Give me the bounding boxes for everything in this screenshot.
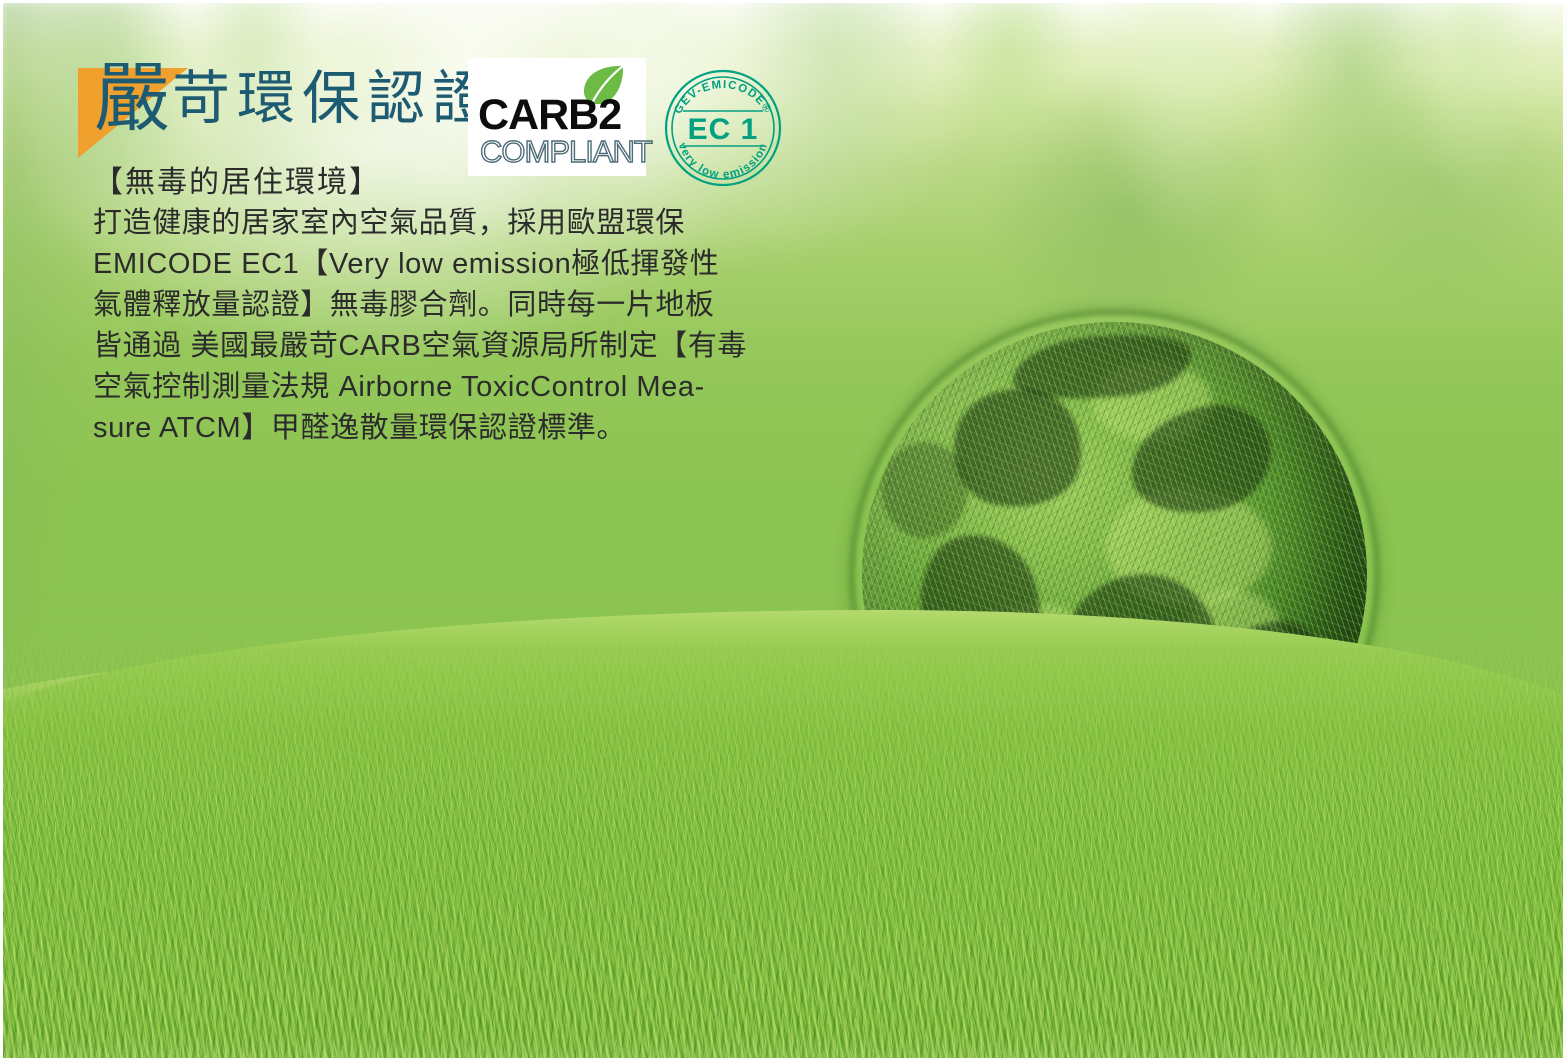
body-line-6: sure ATCM】甲醛逸散量環保認證標準。 [93,408,693,449]
page-title: 嚴苛環保認證 [94,60,497,136]
headline-first-char: 嚴 [94,53,172,142]
carb-number: 2 [598,91,621,139]
seal-center-text: EC 1 [688,113,759,146]
body-line-5: 空氣控制測量法規 Airborne ToxicControl Mea- [93,367,693,408]
grass-texture-near [0,810,1567,1060]
body-line-1: 打造健康的居家室內空氣品質，採用歐盟環保 [93,203,693,244]
eco-certification-poster: 嚴苛環保認證 CARB2 COMPLIANT GEV-EMICODE® EC 1… [0,0,1567,1060]
body-line-4: 皆通過 美國最嚴苛CARB空氣資源局所制定【有毒 [93,326,693,367]
headline-rest: 苛環保認證 [172,64,497,132]
carb-brand: CARB [478,91,598,139]
body-line-2: EMICODE EC1【Very low emission極低揮發性 [93,244,693,285]
body-copy: 【無毒的居住環境】 打造健康的居家室內空氣品質，採用歐盟環保 EMICODE E… [93,163,693,449]
carb2-logo: CARB2 COMPLIANT [468,58,646,176]
body-heading: 【無毒的居住環境】 [93,163,693,203]
body-line-3: 氣體釋放量認證】無毒膠合劑。同時每一片地板 [93,285,693,326]
carb-wordmark: CARB2 [478,94,621,137]
